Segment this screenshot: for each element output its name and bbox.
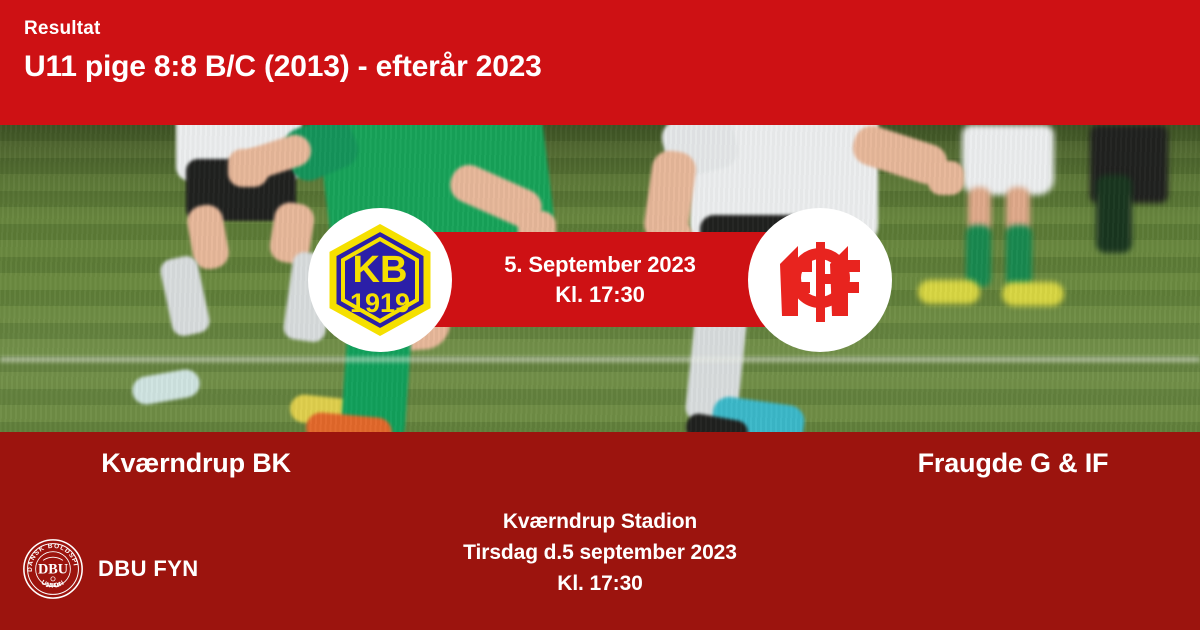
crest-initials: KB [353, 249, 408, 291]
home-team-name: Kværndrup BK [0, 445, 600, 481]
match-result-poster: Resultat U11 pige 8:8 B/C (2013) - efter… [0, 0, 1200, 630]
match-kickoff-time: Kl. 17:30 [555, 280, 645, 310]
match-date: 5. September 2023 [504, 250, 696, 280]
crest-year: 1919 [350, 288, 410, 318]
fraugde-gif-crest-icon [760, 220, 880, 340]
dbu-monogram: DBU [38, 561, 68, 577]
header-kicker: Resultat [24, 17, 1200, 41]
home-team-crest: KB 1919 [308, 208, 452, 352]
dbu-seal-icon: DANSK BOLDSPIL UNION DBU 1889 [22, 538, 84, 600]
away-team-crest [748, 208, 892, 352]
poster-header: Resultat U11 pige 8:8 B/C (2013) - efter… [0, 0, 1200, 125]
poster-footer: Kværndrup BK Fraugde G & IF Kværndrup St… [0, 432, 1200, 630]
kvaerndrup-bk-crest-icon: KB 1919 [320, 220, 440, 340]
team-names-row: Kværndrup BK Fraugde G & IF [0, 445, 1200, 481]
venue-stadium: Kværndrup Stadion [0, 506, 1200, 537]
brand-lockup: DANSK BOLDSPIL UNION DBU 1889 DBU FYN [22, 538, 199, 600]
page-title: U11 pige 8:8 B/C (2013) - efterår 2023 [24, 46, 1200, 88]
away-team-name: Fraugde G & IF [600, 445, 1200, 481]
brand-label: DBU FYN [98, 556, 199, 582]
dbu-year: 1889 [46, 583, 61, 589]
